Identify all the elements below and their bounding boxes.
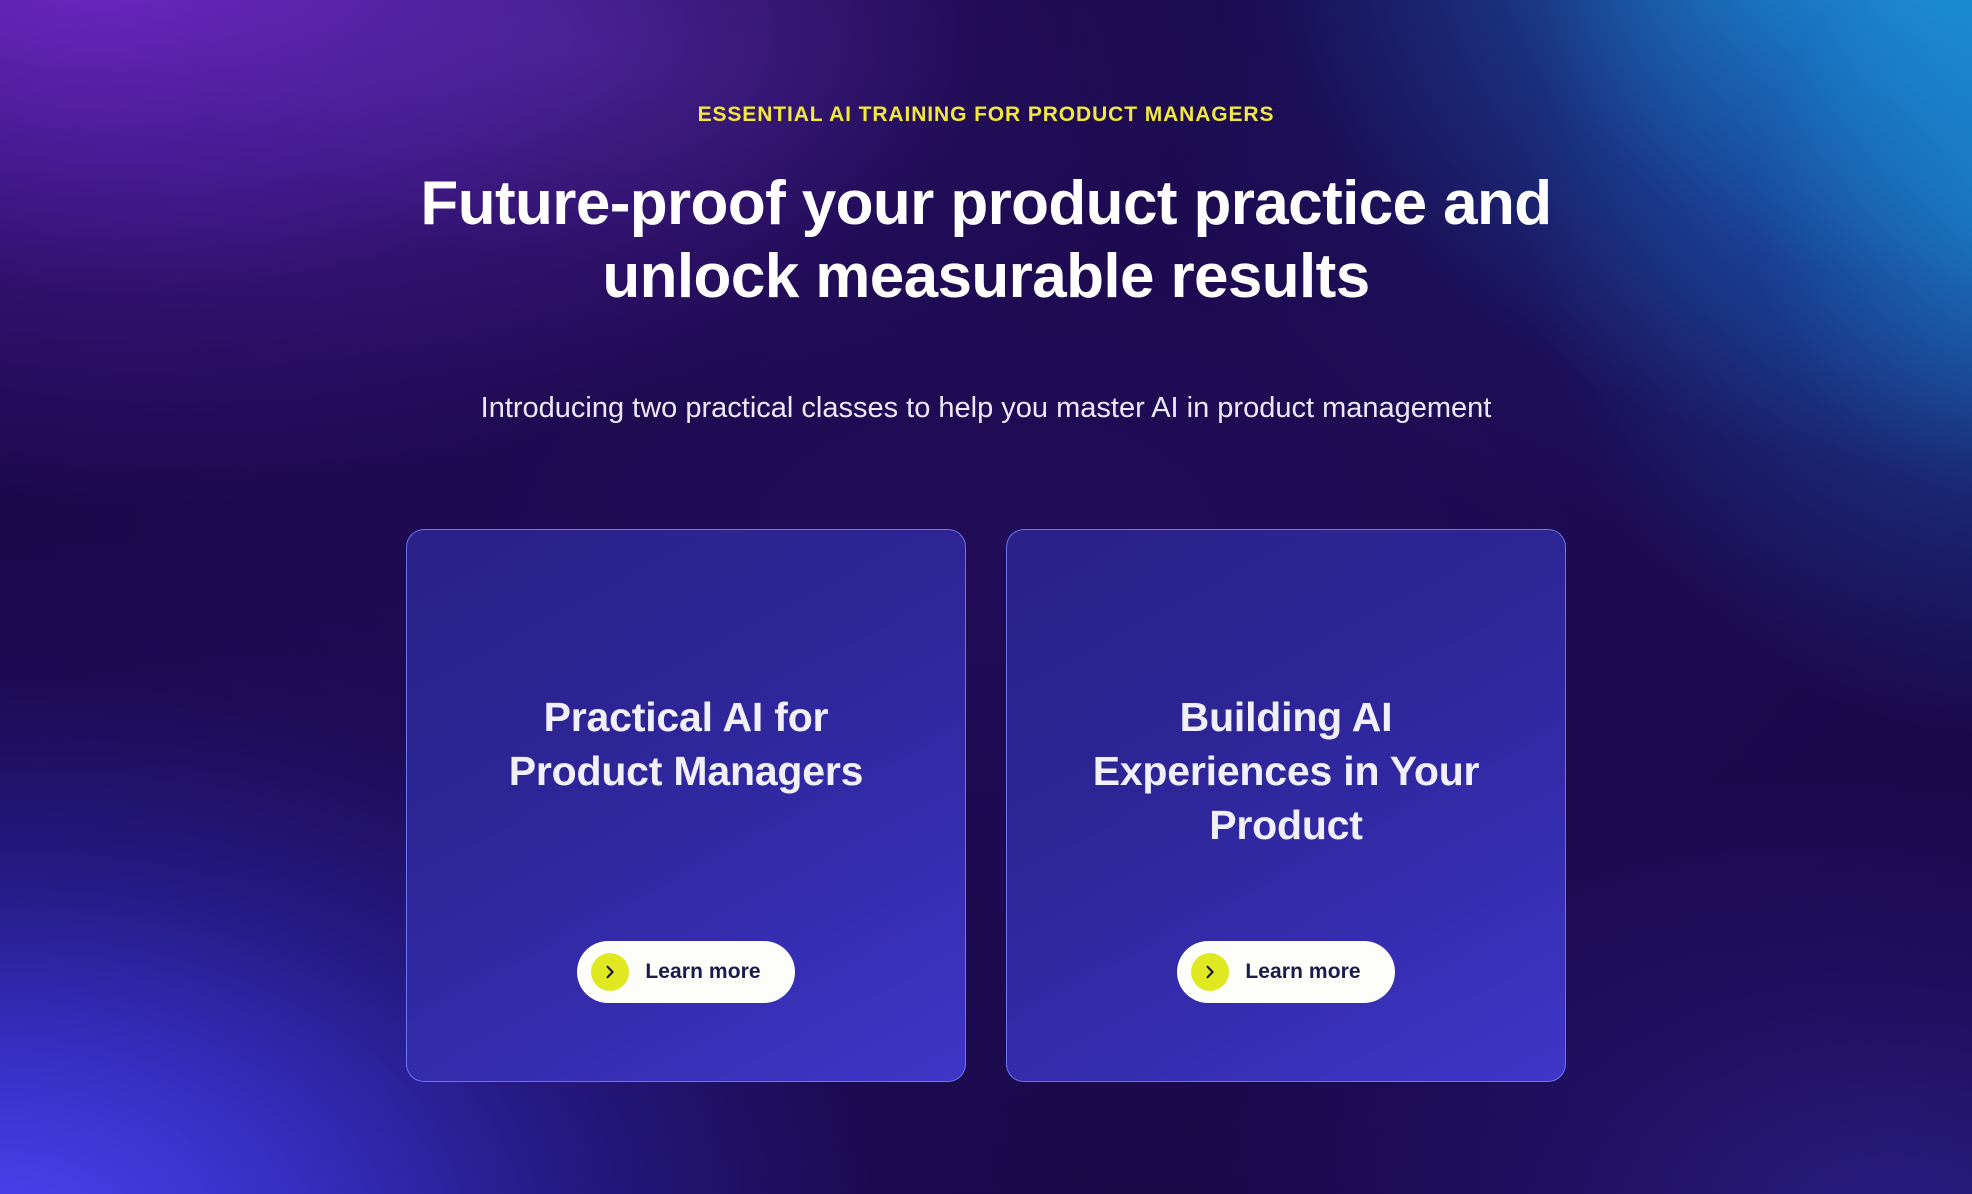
- chevron-right-icon: [1191, 953, 1229, 991]
- hero-subheadline: Introducing two practical classes to hel…: [481, 389, 1492, 428]
- course-card-building-ai[interactable]: Building AI Experiences in Your Product …: [1006, 529, 1566, 1082]
- course-card-title: Building AI Experiences in Your Product: [1071, 690, 1501, 852]
- learn-more-button-practical-ai[interactable]: Learn more: [577, 941, 794, 1003]
- hero-headline: Future-proof your product practice and u…: [321, 167, 1651, 313]
- learn-more-button-building-ai[interactable]: Learn more: [1177, 941, 1394, 1003]
- hero-eyebrow: ESSENTIAL AI TRAINING FOR PRODUCT MANAGE…: [698, 104, 1275, 125]
- course-card-group: Practical AI for Product Managers Learn …: [406, 529, 1566, 1082]
- chevron-right-icon: [591, 953, 629, 991]
- hero-content: ESSENTIAL AI TRAINING FOR PRODUCT MANAGE…: [0, 0, 1972, 1194]
- learn-more-label: Learn more: [1245, 960, 1360, 984]
- course-card-practical-ai[interactable]: Practical AI for Product Managers Learn …: [406, 529, 966, 1082]
- learn-more-label: Learn more: [645, 960, 760, 984]
- hero-section: ESSENTIAL AI TRAINING FOR PRODUCT MANAGE…: [0, 0, 1972, 1194]
- course-card-title: Practical AI for Product Managers: [471, 690, 901, 798]
